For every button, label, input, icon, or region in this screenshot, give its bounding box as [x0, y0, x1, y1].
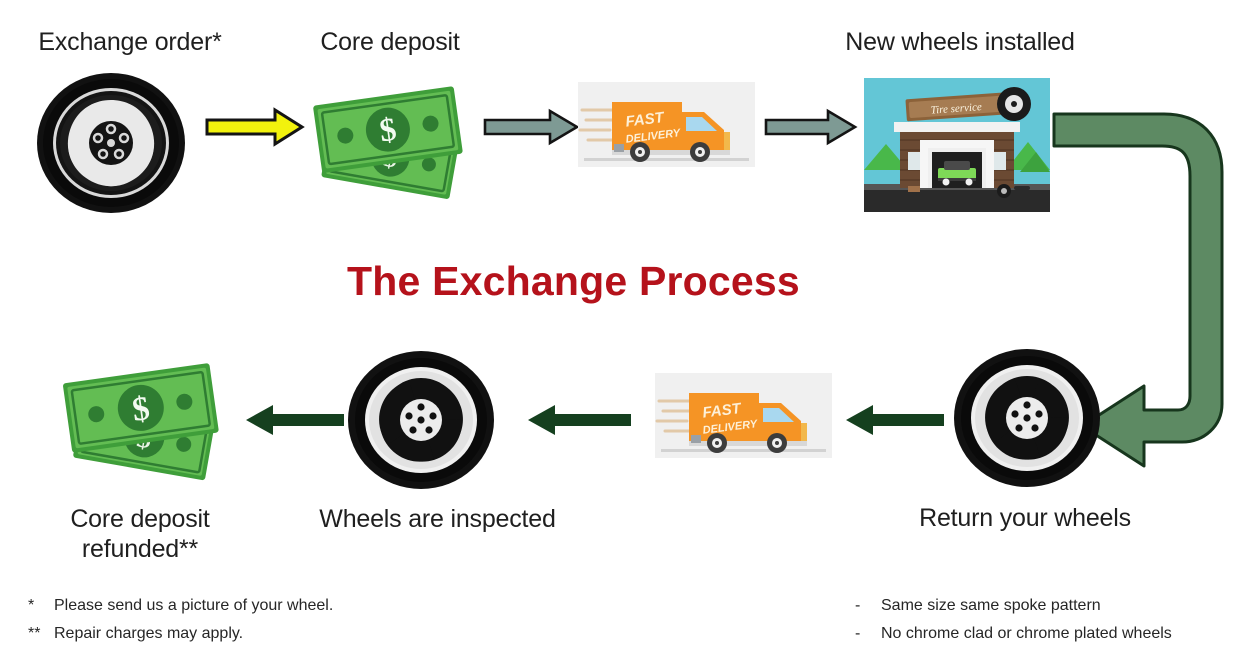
- footnote-left-1-mark: *: [28, 592, 54, 620]
- footnote-right-1-mark: -: [855, 592, 881, 620]
- footnote-left-2: **Repair charges may apply.: [28, 620, 333, 648]
- arrow-shipping-to-install: [765, 110, 857, 144]
- label-core-deposit: Core deposit: [290, 28, 490, 58]
- footnote-right-1: -Same size same spoke pattern: [855, 592, 1172, 620]
- wheel-icon-exchange-order: [36, 72, 186, 214]
- label-new-wheels-installed: New wheels installed: [810, 28, 1110, 58]
- footnote-left-1-text: Please send us a picture of your wheel.: [54, 597, 333, 614]
- tire-service-shop-image: Tire service: [864, 78, 1050, 212]
- footnotes-left: *Please send us a picture of your wheel.…: [28, 592, 333, 647]
- label-core-deposit-refunded: Core deposit refunded**: [35, 505, 245, 564]
- page-title: The Exchange Process: [347, 258, 800, 305]
- label-core-deposit-refunded-line1: Core deposit: [35, 505, 245, 535]
- arrow-inspection-to-refund: [245, 404, 345, 436]
- money-icon-core-deposit: $ $: [308, 75, 478, 205]
- money-icon-refund: $ $: [58, 352, 238, 487]
- truck-image-inbound: FAST DELIVERY: [655, 373, 832, 458]
- label-core-deposit-refunded-line2: refunded**: [35, 535, 245, 565]
- footnote-left-1: *Please send us a picture of your wheel.: [28, 592, 333, 620]
- exchange-process-diagram: Exchange order*: [0, 0, 1250, 666]
- arrow-deposit-to-shipping: [484, 110, 579, 144]
- arrow-return-to-transit: [845, 404, 945, 436]
- footnote-left-2-mark: **: [28, 620, 54, 648]
- label-exchange-order: Exchange order*: [10, 28, 250, 58]
- label-wheels-are-inspected: Wheels are inspected: [305, 505, 570, 535]
- wheel-icon-return-your-wheels: [953, 348, 1101, 488]
- footnotes-right: -Same size same spoke pattern -No chrome…: [855, 592, 1172, 647]
- arrow-order-to-deposit: [205, 108, 305, 146]
- label-return-your-wheels: Return your wheels: [895, 504, 1155, 534]
- arrow-transit-to-inspection: [527, 404, 632, 436]
- truck-image-outbound: FAST DELIVERY: [578, 82, 755, 167]
- footnote-right-1-text: Same size same spoke pattern: [881, 597, 1101, 614]
- footnote-right-2-text: No chrome clad or chrome plated wheels: [881, 625, 1172, 642]
- footnote-right-2: -No chrome clad or chrome plated wheels: [855, 620, 1172, 648]
- wheel-icon-inspection: [347, 350, 495, 490]
- footnote-left-2-text: Repair charges may apply.: [54, 625, 243, 642]
- footnote-right-2-mark: -: [855, 620, 881, 648]
